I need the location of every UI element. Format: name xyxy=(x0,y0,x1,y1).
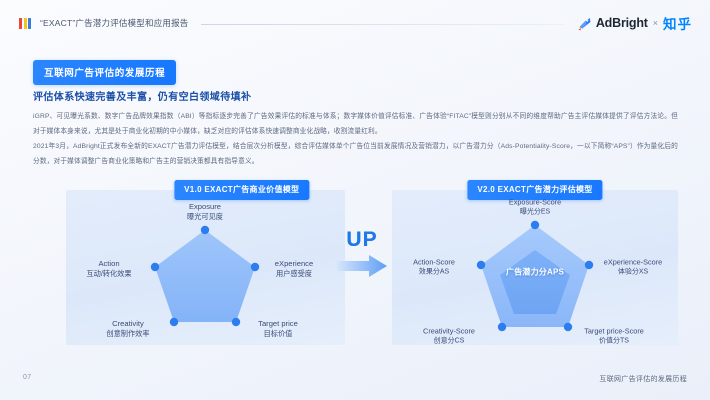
report-title: “EXACT”广告潜力评估模型和应用报告 xyxy=(40,17,189,29)
marker-bar-blue xyxy=(28,18,31,29)
logo-separator: × xyxy=(652,18,659,28)
node-label-action: Action 互动/转化效果 xyxy=(86,259,131,279)
page-number: 07 xyxy=(23,374,31,381)
panel-v1-model: V1.0 EXACT广告商业价值模型 Exposure 曝光可见度 xyxy=(66,190,345,345)
body-copy: iGRP、可见曝光系数、数字广告品牌效果指数（ABI）等指标逐步完善了广告效果评… xyxy=(33,110,678,169)
node-label-creativity: Creativity 创意制作效率 xyxy=(106,319,149,339)
node-label-target-price-score: Target price-Score 价值分TS xyxy=(584,327,644,346)
up-label: UP xyxy=(330,228,394,252)
node-label-experience: eXperience 用户感受度 xyxy=(275,259,313,279)
node-label-exposure-score: Exposure-Score 曝光分ES xyxy=(509,198,561,217)
logo-partner-text: 知乎 xyxy=(663,13,692,33)
section-subtitle: 评估体系快速完善及丰富，仍有空白领域待填补 xyxy=(33,88,251,103)
marker-bar-red xyxy=(19,18,22,29)
section-badge: 互联网广告评估的发展历程 xyxy=(33,60,176,85)
adbright-rocket-icon xyxy=(577,16,592,31)
page-header: “EXACT”广告潜力评估模型和应用报告 AdBright × 知乎 xyxy=(0,0,710,46)
paragraph-1: iGRP、可见曝光系数、数字广告品牌效果指数（ABI）等指标逐步完善了广告效果评… xyxy=(33,110,678,139)
pentagon-v2: 广告潜力分APS Exposure-Score 曝光分ES eXperience… xyxy=(392,190,678,345)
logo-brand-text: AdBright xyxy=(596,16,648,30)
page-footer: 07 互联网广告评估的发展历程 xyxy=(0,366,710,400)
upgrade-indicator: UP xyxy=(330,228,394,277)
aps-core-label: 广告潜力分APS xyxy=(506,267,564,278)
node-label-experience-score: eXperience-Score 体验分XS xyxy=(604,258,662,277)
node-label-action-score: Action-Score 效果分AS xyxy=(413,258,455,277)
right-arrow-icon xyxy=(337,255,387,277)
brand-logo: AdBright × 知乎 xyxy=(577,13,692,33)
header-divider xyxy=(201,24,565,25)
three-bar-marker-icon xyxy=(19,18,31,29)
footer-note: 互联网广告评估的发展历程 xyxy=(599,374,687,384)
node-label-target-price: Target price 目标价值 xyxy=(258,319,298,339)
panel-v2-model: V2.0 EXACT广告潜力评估模型 xyxy=(392,190,678,345)
paragraph-2: 2021年3月，AdBright正式发布全新的EXACT广告潜力评估模型，结合层… xyxy=(33,140,678,169)
node-label-creativity-score: Creativity-Score 创意分CS xyxy=(423,327,475,346)
model-comparison-diagram: V1.0 EXACT广告商业价值模型 Exposure 曝光可见度 xyxy=(0,176,710,352)
pentagon-v1: Exposure 曝光可见度 eXperience 用户感受度 Target p… xyxy=(66,190,345,345)
marker-bar-yellow xyxy=(24,18,27,29)
node-label-exposure: Exposure 曝光可见度 xyxy=(187,202,223,222)
